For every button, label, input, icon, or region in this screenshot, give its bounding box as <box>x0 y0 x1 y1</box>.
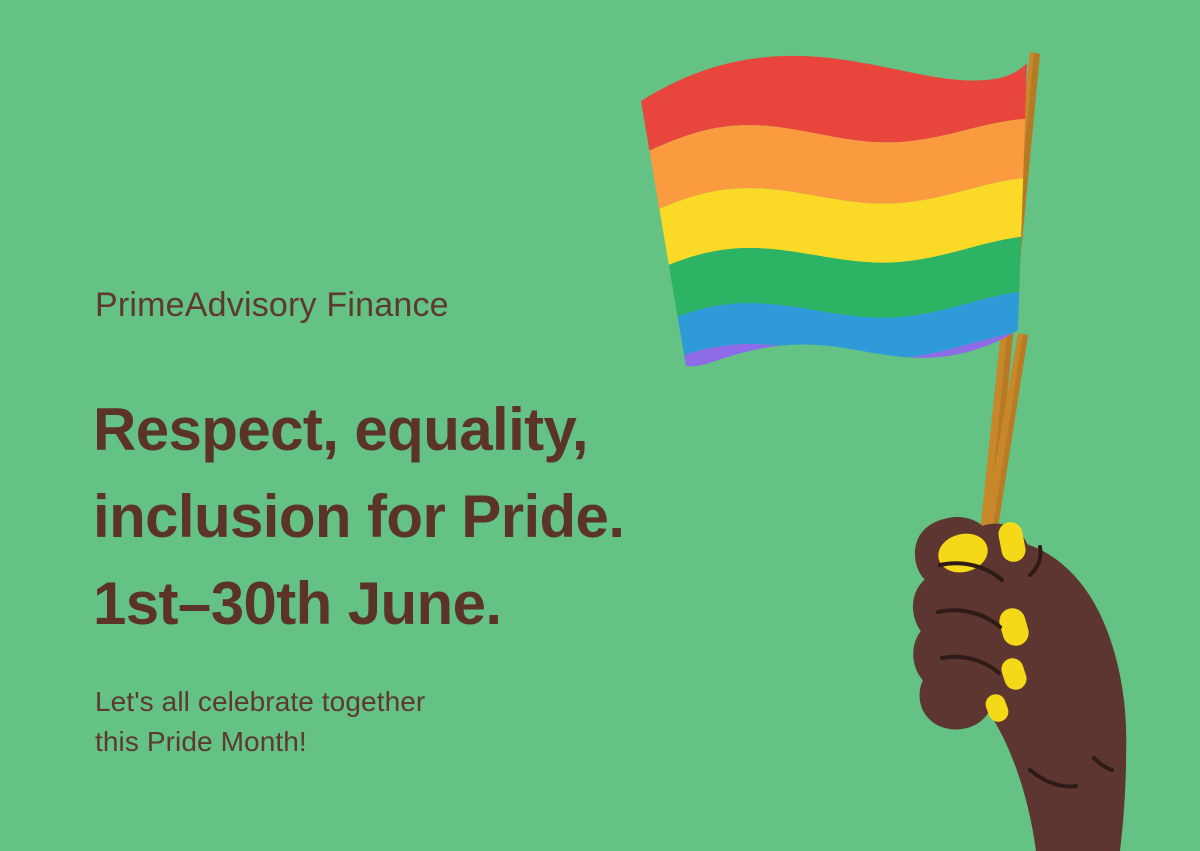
headline-line-2: inclusion for Pride. <box>93 473 624 560</box>
subtext: Let's all celebrate together this Pride … <box>95 682 425 762</box>
headline-line-3: 1st–30th June. <box>93 560 624 647</box>
headline-line-1: Respect, equality, <box>93 386 624 473</box>
subtext-line-1: Let's all celebrate together <box>95 682 425 722</box>
headline: Respect, equality, inclusion for Pride. … <box>93 386 624 647</box>
text-content: PrimeAdvisory Finance Respect, equality,… <box>0 0 700 851</box>
pride-banner: PrimeAdvisory Finance Respect, equality,… <box>0 0 1200 851</box>
brand-name: PrimeAdvisory Finance <box>95 286 449 325</box>
subtext-line-2: this Pride Month! <box>95 722 425 762</box>
